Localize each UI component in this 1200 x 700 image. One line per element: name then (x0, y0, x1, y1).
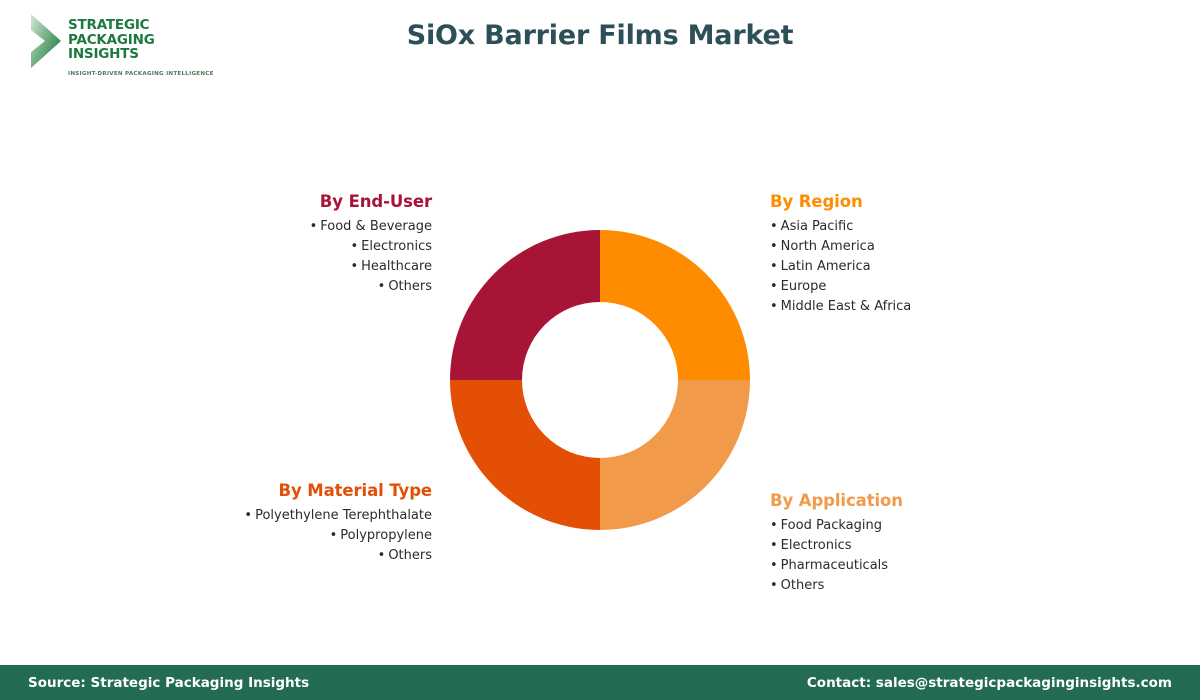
list-item: •Food Packaging (770, 516, 1100, 536)
donut-chart (450, 230, 750, 530)
list-item: •Latin America (770, 257, 1100, 277)
category-block-by-material-type: By Material Type •Polyethylene Terephtha… (110, 481, 432, 566)
bullet-icon: • (770, 538, 778, 553)
category-list-by-region: •Asia Pacific•North America•Latin Americ… (770, 217, 1100, 317)
category-block-by-region: By Region •Asia Pacific•North America•La… (770, 192, 1100, 317)
bullet-icon: • (244, 508, 252, 523)
bullet-icon: • (770, 259, 778, 274)
category-block-by-application: By Application •Food Packaging•Electroni… (770, 491, 1100, 596)
list-item: •Healthcare (110, 257, 432, 277)
bullet-icon: • (770, 219, 778, 234)
category-title-by-material-type: By Material Type (110, 481, 432, 500)
category-title-by-end-user: By End-User (110, 192, 432, 211)
category-list-by-end-user: •Food & Beverage•Electronics•Healthcare•… (110, 217, 432, 297)
bullet-icon: • (770, 279, 778, 294)
list-item: •Others (770, 576, 1100, 596)
logo-tagline: INSIGHT-DRIVEN PACKAGING INTELLIGENCE (68, 71, 213, 77)
bullet-icon: • (378, 548, 386, 563)
bullet-icon: • (350, 259, 358, 274)
bullet-icon: • (310, 219, 318, 234)
bullet-icon: • (770, 558, 778, 573)
footer-source: Source: Strategic Packaging Insights (28, 675, 309, 691)
bullet-icon: • (770, 518, 778, 533)
category-title-by-region: By Region (770, 192, 1100, 211)
bullet-icon: • (770, 299, 778, 314)
list-item: •Others (110, 277, 432, 297)
bullet-icon: • (350, 239, 358, 254)
bullet-icon: • (770, 239, 778, 254)
category-title-by-application: By Application (770, 491, 1100, 510)
page-title: SiOx Barrier Films Market (0, 20, 1200, 51)
footer-bar: Source: Strategic Packaging Insights Con… (0, 665, 1200, 700)
list-item: •Polypropylene (110, 526, 432, 546)
list-item: •Others (110, 546, 432, 566)
donut-center-hole (522, 302, 678, 458)
donut-chart-svg (450, 230, 750, 530)
list-item: •Electronics (770, 536, 1100, 556)
list-item: •Pharmaceuticals (770, 556, 1100, 576)
category-list-by-application: •Food Packaging•Electronics•Pharmaceutic… (770, 516, 1100, 596)
bullet-icon: • (378, 279, 386, 294)
list-item: •Polyethylene Terephthalate (110, 506, 432, 526)
list-item: •Food & Beverage (110, 217, 432, 237)
list-item: •North America (770, 237, 1100, 257)
bullet-icon: • (330, 528, 338, 543)
list-item: •Asia Pacific (770, 217, 1100, 237)
category-list-by-material-type: •Polyethylene Terephthalate•Polypropylen… (110, 506, 432, 566)
list-item: •Europe (770, 277, 1100, 297)
footer-contact[interactable]: Contact: sales@strategicpackaginginsight… (807, 675, 1172, 691)
list-item: •Electronics (110, 237, 432, 257)
list-item: •Middle East & Africa (770, 297, 1100, 317)
category-block-by-end-user: By End-User •Food & Beverage•Electronics… (110, 192, 432, 297)
bullet-icon: • (770, 578, 778, 593)
